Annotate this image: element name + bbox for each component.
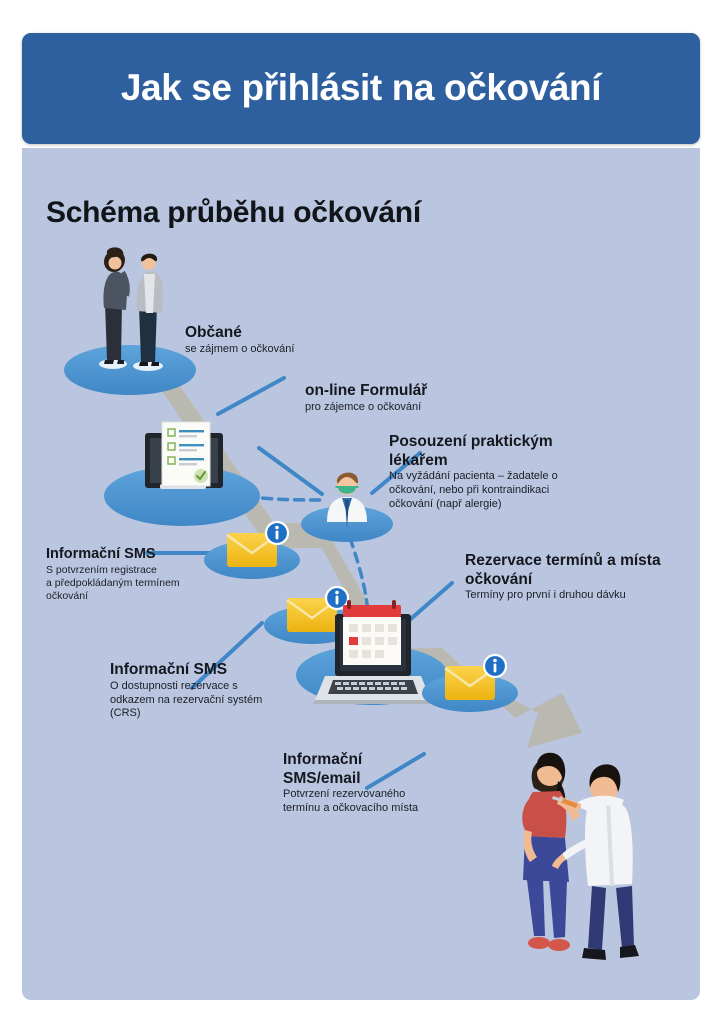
callout-formular: on-line Formulář pro zájemce o očkování (305, 382, 427, 415)
callout-sms-3: Informační SMS/email Potvrzení rezervova… (283, 751, 463, 816)
callout-sms-3-body-2: termínu a očkovacího místa (283, 802, 463, 816)
page-title: Jak se přihlásit na očkování (121, 68, 601, 109)
callout-sms-3-title-2: SMS/email (283, 770, 463, 788)
body-panel: Schéma průběhu očkování (22, 148, 700, 1000)
callout-obcane-title: Občané (185, 324, 294, 342)
callout-sms-3-body-1: Potvrzení rezervovaného (283, 788, 463, 802)
doctor-mask-icon (327, 473, 367, 528)
callout-formular-body: pro zájemce o očkování (305, 401, 427, 415)
station-doctor (301, 473, 393, 542)
callout-sms-3-title-1: Informační (283, 751, 463, 769)
callout-rezervace-title-2: očkování (465, 571, 680, 589)
callout-posouzeni-title-1: Posouzení praktickým (389, 433, 599, 451)
callout-posouzeni-title-2: lékařem (389, 452, 599, 470)
callout-obcane-body: se zájmem o očkování (185, 343, 294, 357)
callout-posouzeni: Posouzení praktickým lékařem Na vyžádání… (389, 433, 599, 512)
callout-obcane: Občané se zájmem o očkování (185, 324, 294, 357)
callout-sms-2-title: Informační SMS (110, 661, 300, 679)
calendar-selected-day (349, 637, 358, 645)
station-citizens (64, 247, 196, 395)
callout-sms-2-body-2: odkazem na rezervační systém (110, 694, 300, 708)
poster-root: Jak se přihlásit na očkování Schéma průb… (0, 0, 722, 1024)
callout-sms-1-title: Informační SMS (46, 546, 226, 563)
callout-formular-title: on-line Formulář (305, 382, 427, 400)
connector-formular (218, 378, 284, 414)
callout-sms-1: Informační SMS S potvrzením registrace a… (46, 546, 226, 603)
connector-posouzeni-left (259, 448, 322, 494)
callout-rezervace-body: Termíny pro první i druhou dávku (465, 589, 680, 603)
callout-rezervace: Rezervace termínů a místa očkování Termí… (465, 552, 680, 603)
callout-sms-1-body-3: očkování (46, 590, 226, 603)
callout-sms-1-body-2: a předpokládaným termínem (46, 577, 226, 590)
header-banner: Jak se přihlásit na očkování (22, 33, 700, 144)
callout-sms-2: Informační SMS O dostupnosti rezervace s… (110, 661, 300, 721)
callout-sms-2-body-1: O dostupnosti rezervace s (110, 680, 300, 694)
callout-sms-1-body-1: S potvrzením registrace (46, 564, 226, 577)
callout-posouzeni-body-2: očkování, nebo při kontraindikaci (389, 484, 599, 498)
callout-sms-2-body-3: (CRS) (110, 707, 300, 721)
callout-rezervace-title-1: Rezervace termínů a místa (465, 552, 680, 570)
callout-posouzeni-body-1: Na vyžádání pacienta – žadatele o (389, 470, 599, 484)
callout-posouzeni-body-3: očkování (např alergie) (389, 498, 599, 512)
vaccination-illustration (522, 753, 639, 960)
